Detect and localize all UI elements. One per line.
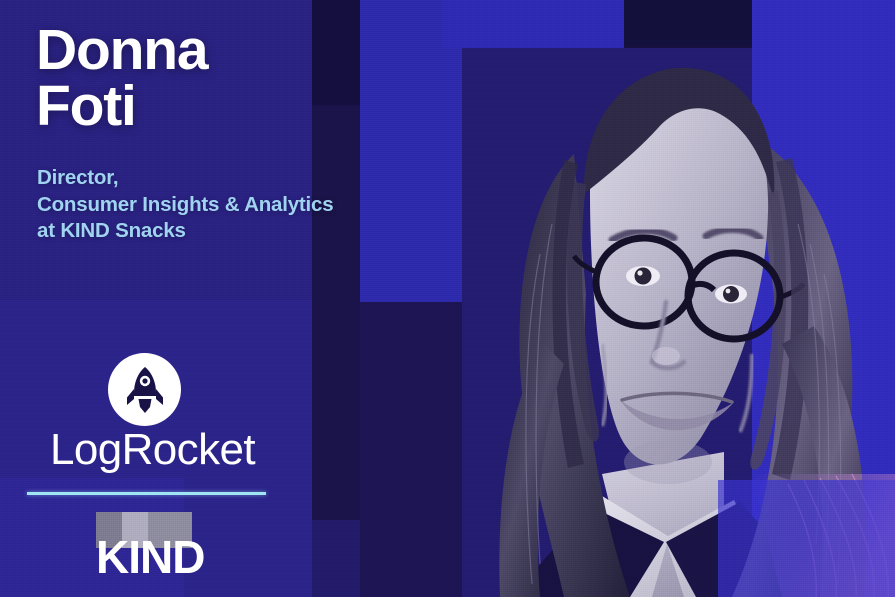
rocket-icon xyxy=(108,353,181,426)
rocket-icon-glyph xyxy=(125,367,165,413)
bg-block-navy-under-band xyxy=(360,302,462,597)
speaker-card: Donna Foti Director, Consumer Insights &… xyxy=(0,0,895,597)
bg-overlay-right-edge xyxy=(862,0,895,480)
kind-wordmark: KIND xyxy=(96,534,204,580)
bg-overlay-bottom-right xyxy=(718,480,895,597)
bg-overlay-top-right-dark xyxy=(624,0,752,46)
logrocket-wordmark: LogRocket xyxy=(30,428,275,472)
bg-block-top-right-blue xyxy=(442,0,624,48)
speaker-role: Director, Consumer Insights & Analytics … xyxy=(37,165,333,245)
kind-logo: KIND xyxy=(96,512,256,587)
speaker-name: Donna Foti xyxy=(36,22,207,135)
divider-rule xyxy=(27,492,266,495)
